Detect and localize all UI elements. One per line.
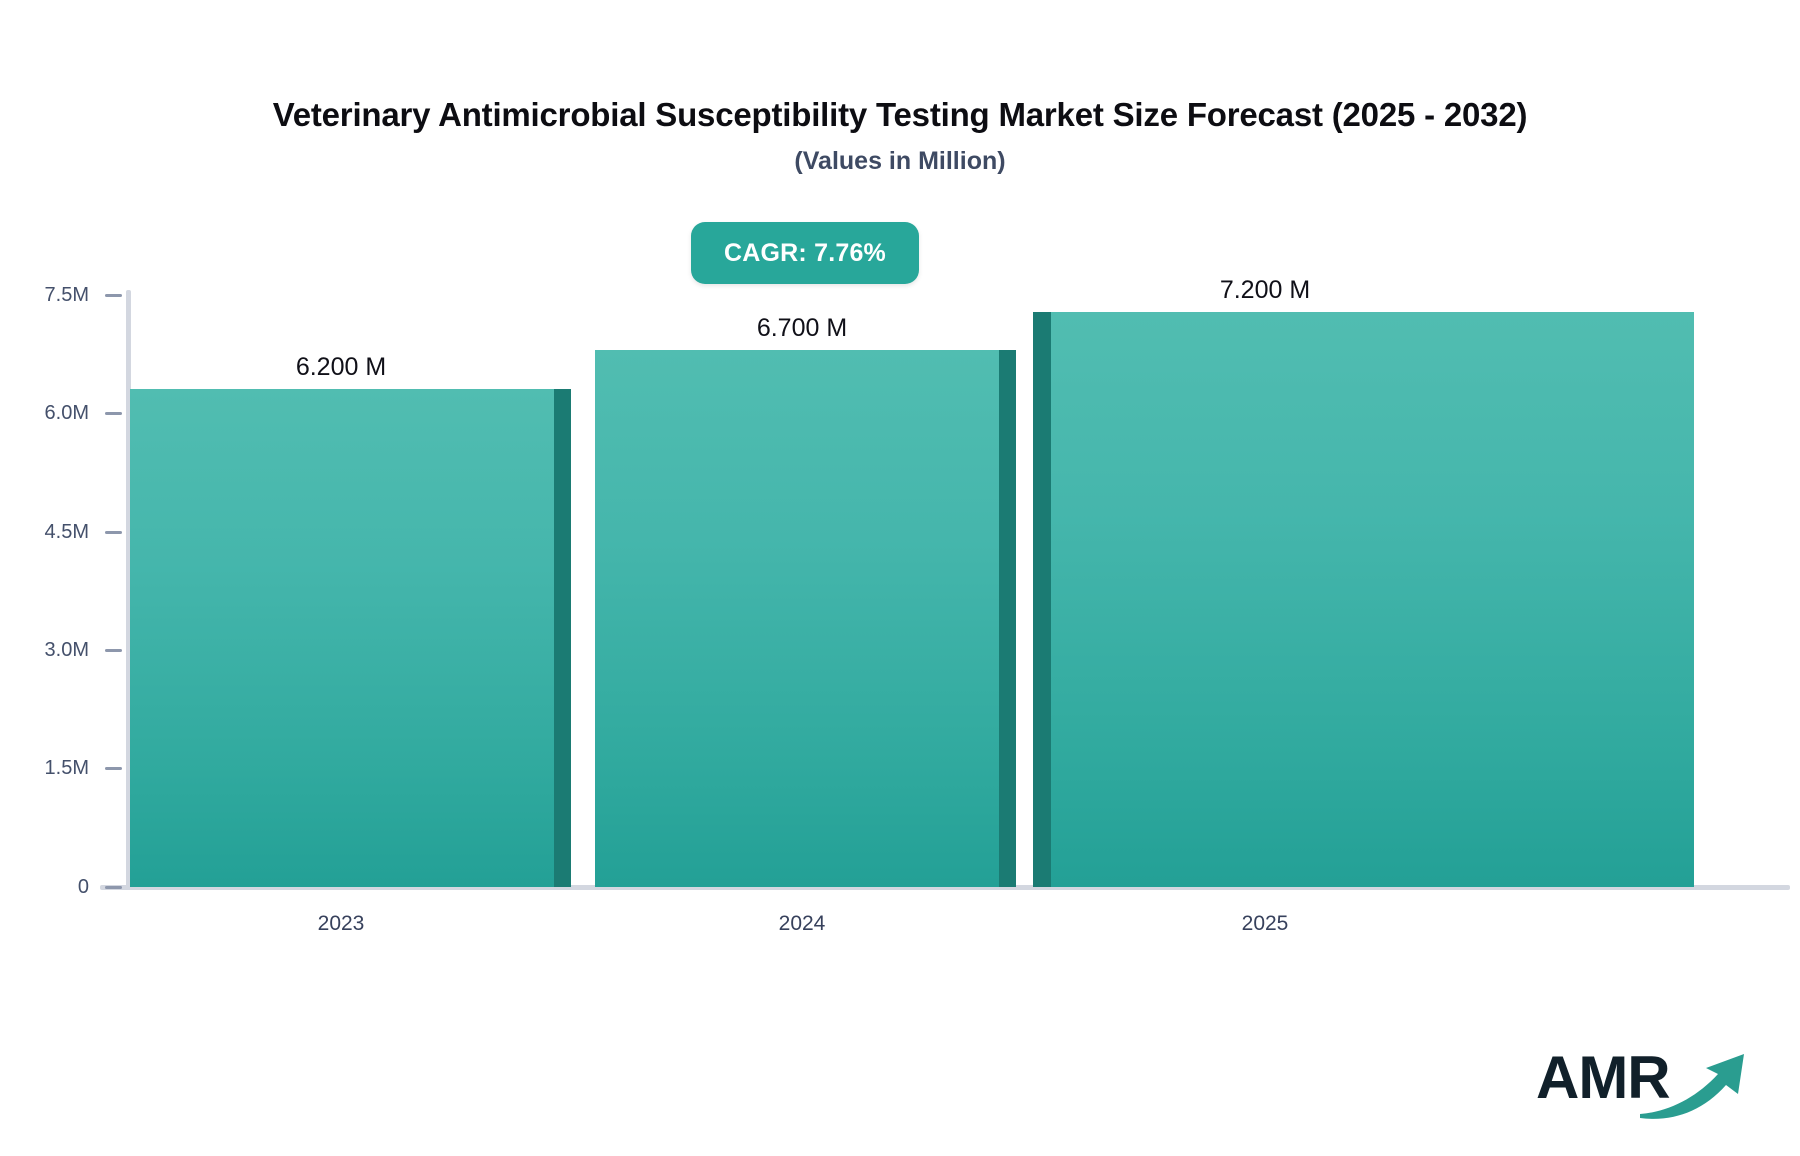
x-axis-tick-label-2025: 2025 [1242, 912, 1289, 936]
bar-2025-value-label: 7.200 M [1220, 276, 1310, 305]
plot-area: 7.5M 6.0M 4.5M 3.0M 1.5M 0 6.200 M 2023 … [0, 0, 1800, 1156]
y-axis-tick-label-1: 1.5M [45, 757, 89, 780]
bar-2023-face[interactable] [130, 389, 554, 887]
bar-2023-side-shadow [553, 389, 571, 887]
bar-2024-value-label: 6.700 M [757, 314, 847, 343]
y-axis-tick-3: 4.5M [0, 522, 122, 542]
y-axis-tick-dash-1 [105, 767, 122, 770]
y-axis-tick-label-5: 7.5M [45, 284, 89, 307]
y-axis-tick-1: 1.5M [0, 758, 122, 778]
y-axis-tick-label-4: 6.0M [45, 402, 89, 425]
cagr-badge: CAGR: 7.76% [691, 222, 919, 284]
y-axis-tick-0: 0 [0, 877, 122, 897]
y-axis-tick-dash-0 [105, 886, 122, 889]
y-axis-tick-dash-2 [105, 649, 122, 652]
y-axis-tick-label-2: 3.0M [45, 639, 89, 662]
cagr-badge-label: CAGR: 7.76% [724, 239, 886, 268]
y-axis-tick-5: 7.5M [0, 285, 122, 305]
bar-2025-side-shadow [1033, 312, 1052, 887]
y-axis-tick-dash-3 [105, 531, 122, 534]
y-axis-tick-label-3: 4.5M [45, 521, 89, 544]
bar-2025-face[interactable] [1051, 312, 1694, 887]
y-axis-tick-dash-4 [105, 412, 122, 415]
bar-2024-face[interactable] [595, 350, 999, 887]
bar-2024-side-shadow [998, 350, 1016, 887]
y-axis-tick-2: 3.0M [0, 640, 122, 660]
y-axis-tick-label-0: 0 [78, 876, 89, 899]
y-axis-tick-4: 6.0M [0, 403, 122, 423]
y-axis-tick-dash-5 [105, 294, 122, 297]
growth-arrow-icon [1638, 1052, 1756, 1122]
amr-logo: AMR [1536, 1038, 1756, 1124]
bar-2023-value-label: 6.200 M [296, 353, 386, 382]
x-axis-tick-label-2023: 2023 [318, 912, 365, 936]
x-axis-tick-label-2024: 2024 [779, 912, 826, 936]
